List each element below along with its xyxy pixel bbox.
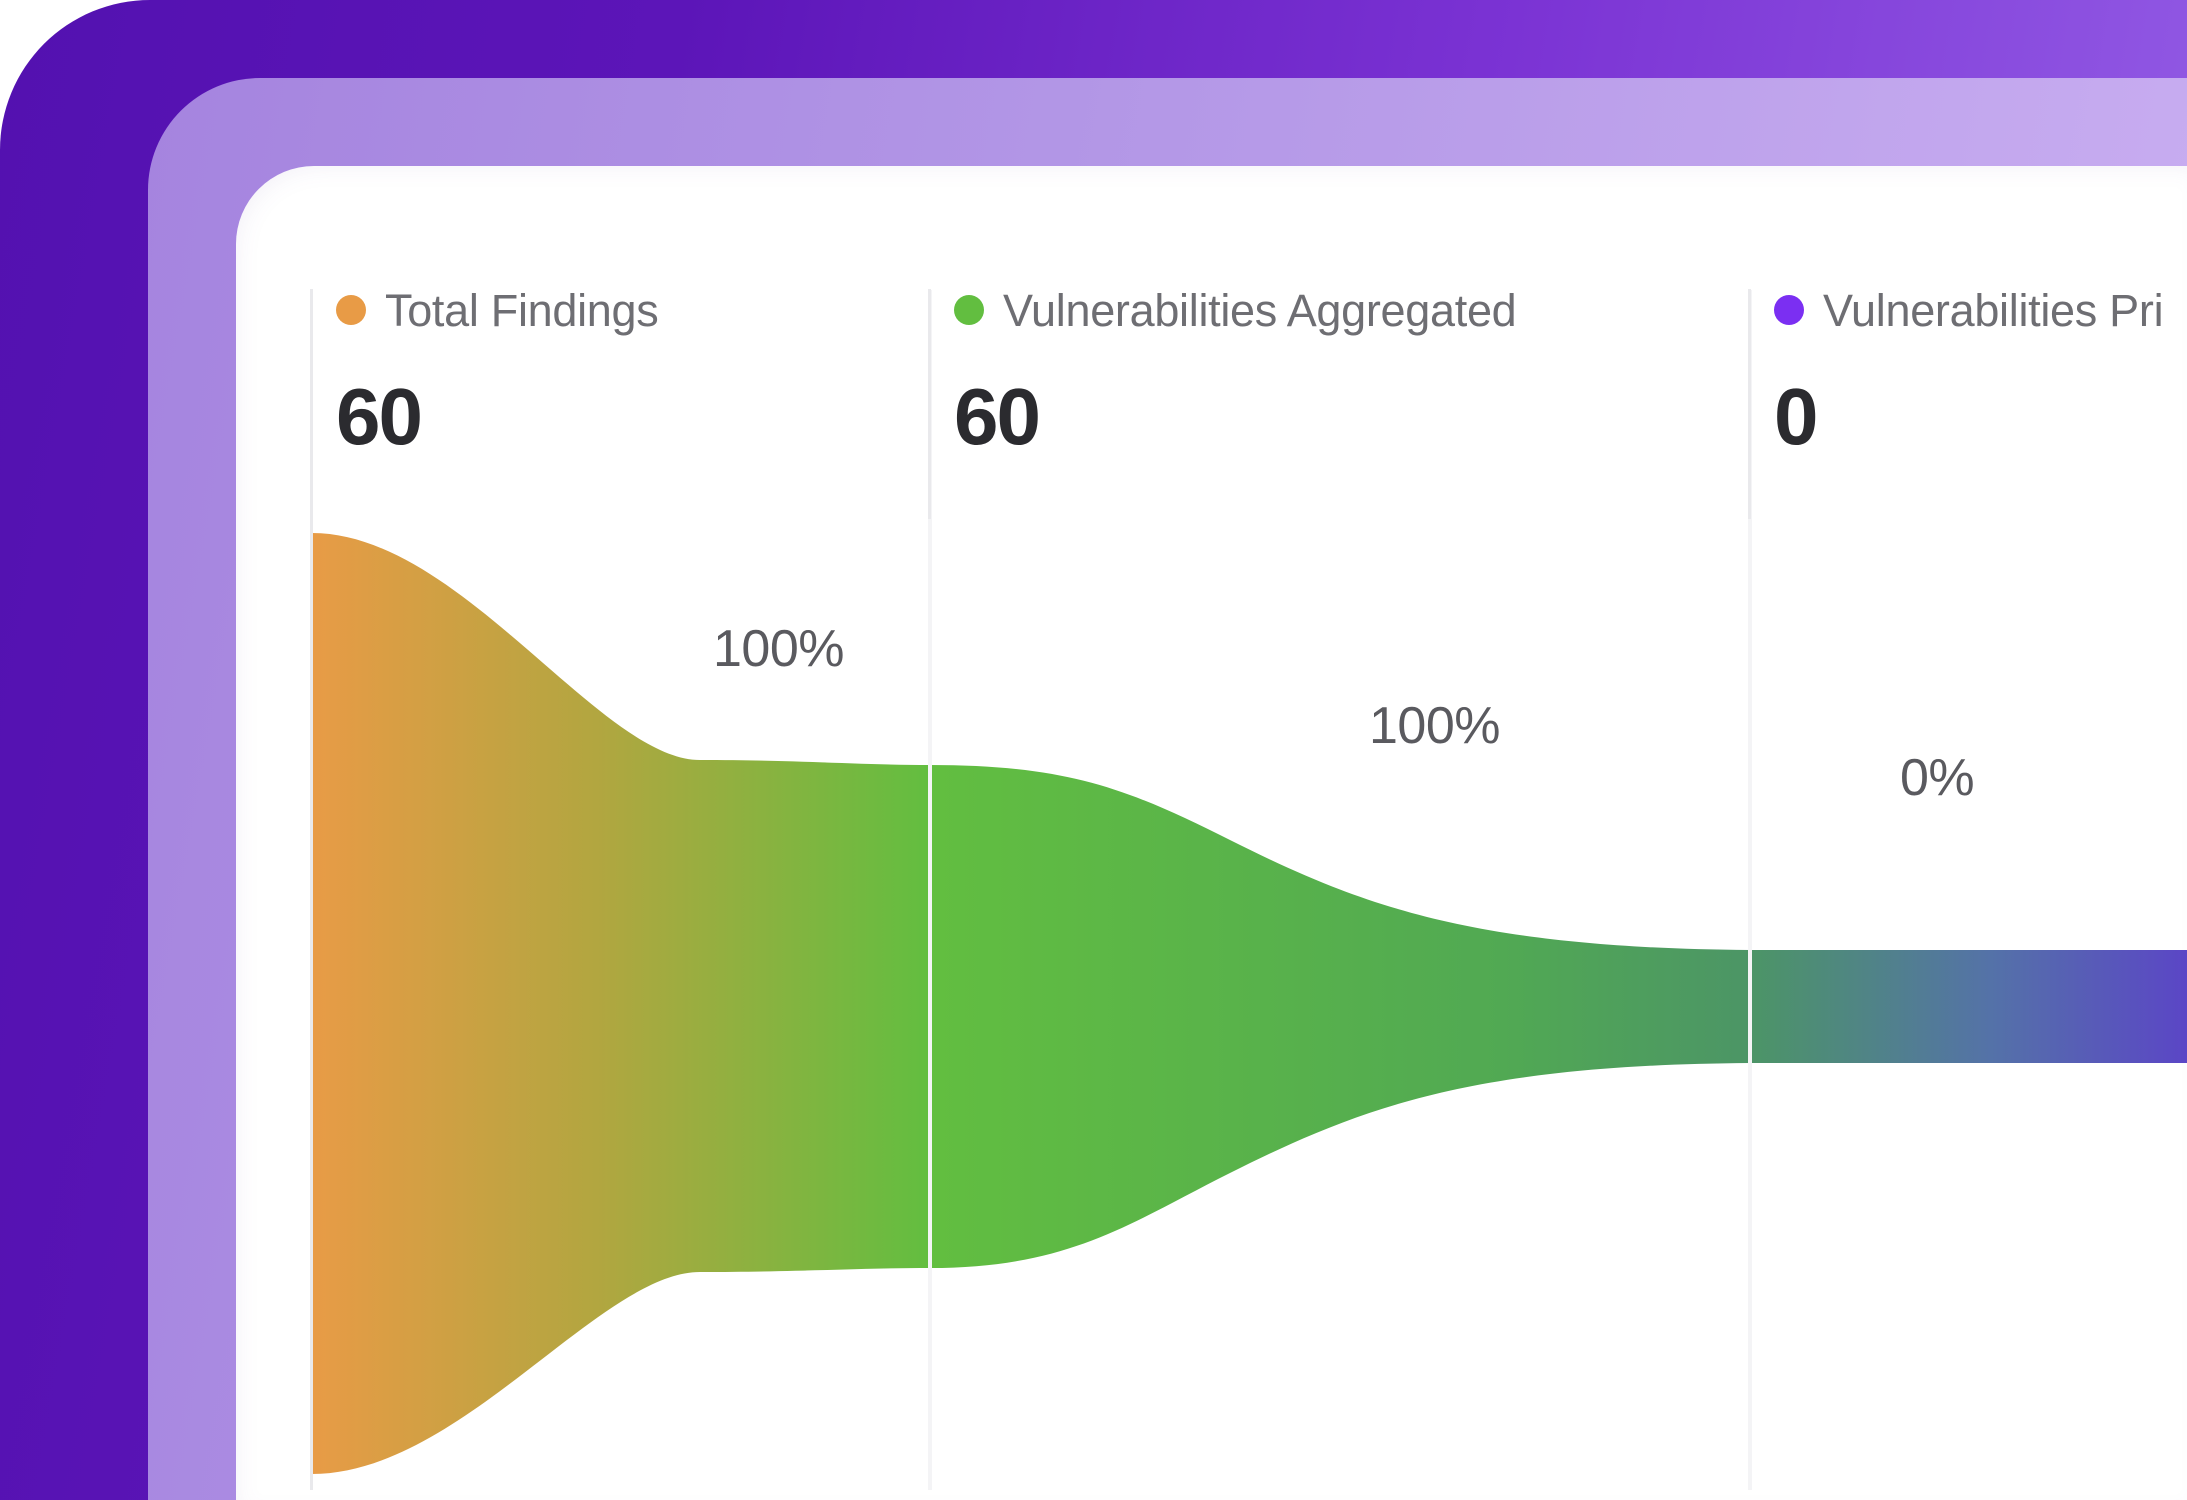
stat-column-total-findings[interactable]: Total Findings 60: [310, 285, 658, 457]
stat-column-vulnerabilities-aggregated[interactable]: Vulnerabilities Aggregated 60: [928, 285, 1516, 457]
legend-dot-purple-icon: [1774, 295, 1804, 325]
stat-column-vulnerabilities-prioritized[interactable]: Vulnerabilities Pri 0: [1748, 285, 2163, 457]
stat-value-vulnerabilities-prioritized: 0: [1774, 377, 2163, 457]
legend-label-vulnerabilities-prioritized: Vulnerabilities Pri: [1823, 288, 2163, 333]
legend-dot-orange-icon: [336, 295, 366, 325]
percent-label-total-findings: 100%: [713, 623, 844, 675]
stat-value-vulnerabilities-aggregated: 60: [954, 377, 1516, 457]
screenshot-root: Total Findings 60 Vulnerabilities Aggreg…: [0, 0, 2187, 1500]
stat-column-rule: [1748, 289, 1751, 519]
percent-label-vulnerabilities-aggregated: 100%: [1369, 700, 1500, 752]
stat-value-total-findings: 60: [336, 377, 658, 457]
legend-row-vulnerabilities-aggregated: Vulnerabilities Aggregated: [954, 285, 1516, 335]
legend-label-vulnerabilities-aggregated: Vulnerabilities Aggregated: [1003, 288, 1516, 333]
legend-dot-green-icon: [954, 295, 984, 325]
percent-label-vulnerabilities-prioritized: 0%: [1900, 752, 1974, 804]
stat-column-rule: [310, 289, 313, 519]
legend-row-total-findings: Total Findings: [336, 285, 658, 335]
legend-row-vulnerabilities-prioritized: Vulnerabilities Pri: [1774, 285, 2163, 335]
legend-label-total-findings: Total Findings: [385, 288, 658, 333]
stat-column-rule: [928, 289, 931, 519]
